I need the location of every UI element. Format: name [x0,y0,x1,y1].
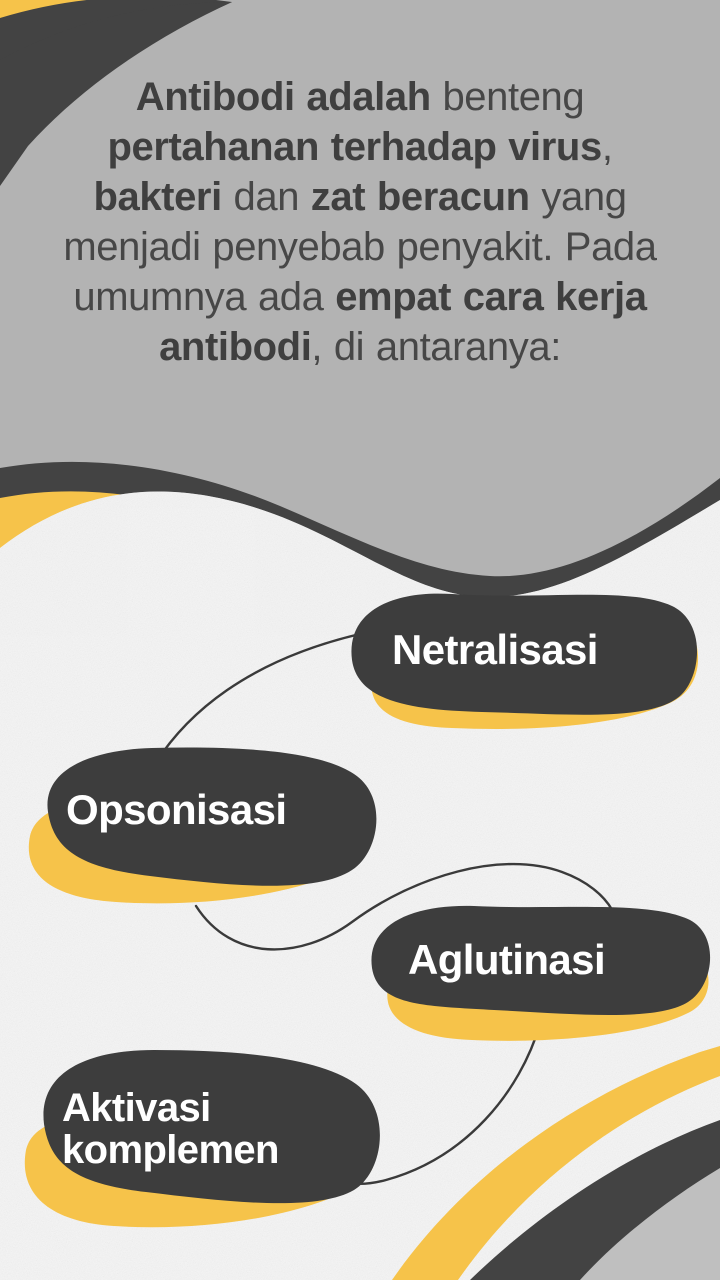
bubble-hit-aktivasi-komplemen[interactable] [24,1048,384,1228]
bubble-hit-aglutinasi[interactable] [370,902,718,1042]
bubble-hit-opsonisasi[interactable] [30,746,380,904]
infographic-canvas: Antibodi adalah benteng pertahanan terha… [0,0,720,1280]
bubble-hit-netralisasi[interactable] [352,590,704,730]
